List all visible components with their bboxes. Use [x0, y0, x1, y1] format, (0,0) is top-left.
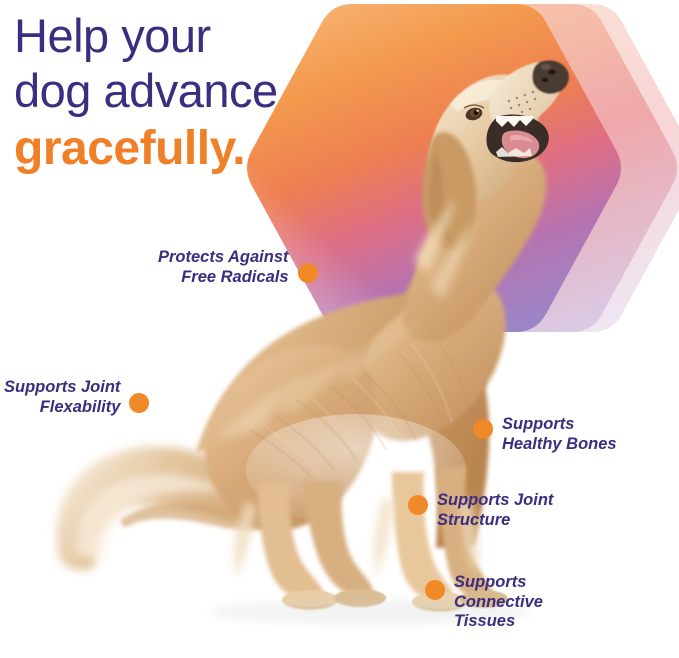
callout-line: Supports	[454, 573, 543, 593]
callout-supports-healthy-bones: Supports Healthy Bones	[473, 415, 617, 454]
callout-dot	[408, 495, 428, 515]
callout-label: Protects Against Free Radicals	[158, 248, 289, 287]
callout-line: Connective	[454, 593, 543, 613]
callout-dot	[129, 393, 149, 413]
callout-dot	[425, 580, 445, 600]
callout-label: Supports Healthy Bones	[502, 415, 617, 454]
callout-supports-connective-tissues: Supports Connective Tissues	[425, 573, 543, 632]
headline: Help your dog advance gracefully.	[14, 8, 278, 177]
callout-label: Supports Connective Tissues	[454, 573, 543, 632]
callout-label: Supports Joint Flexability	[4, 378, 120, 417]
callout-line: Protects Against	[158, 248, 289, 268]
callout-dot	[473, 419, 493, 439]
callout-supports-joint-flexability: Supports Joint Flexability	[4, 378, 149, 417]
callout-line: Supports	[502, 415, 617, 435]
headline-line-2: dog advance	[14, 63, 278, 118]
callout-line: Supports Joint	[4, 378, 120, 398]
callout-line: Flexability	[4, 398, 120, 418]
callout-supports-joint-structure: Supports Joint Structure	[408, 491, 553, 530]
callout-line: Free Radicals	[158, 268, 289, 288]
headline-line-1: Help your	[14, 8, 278, 63]
callout-protects-against-free-radicals: Protects Against Free Radicals	[158, 248, 318, 287]
product-banner: Help your dog advance gracefully. Protec…	[0, 0, 679, 658]
callout-line: Tissues	[454, 612, 543, 632]
headline-accent: gracefully.	[14, 121, 278, 177]
callout-label: Supports Joint Structure	[437, 491, 553, 530]
callout-dot	[298, 263, 318, 283]
callout-line: Supports Joint	[437, 491, 553, 511]
callout-line: Healthy Bones	[502, 435, 617, 455]
callout-line: Structure	[437, 511, 553, 531]
